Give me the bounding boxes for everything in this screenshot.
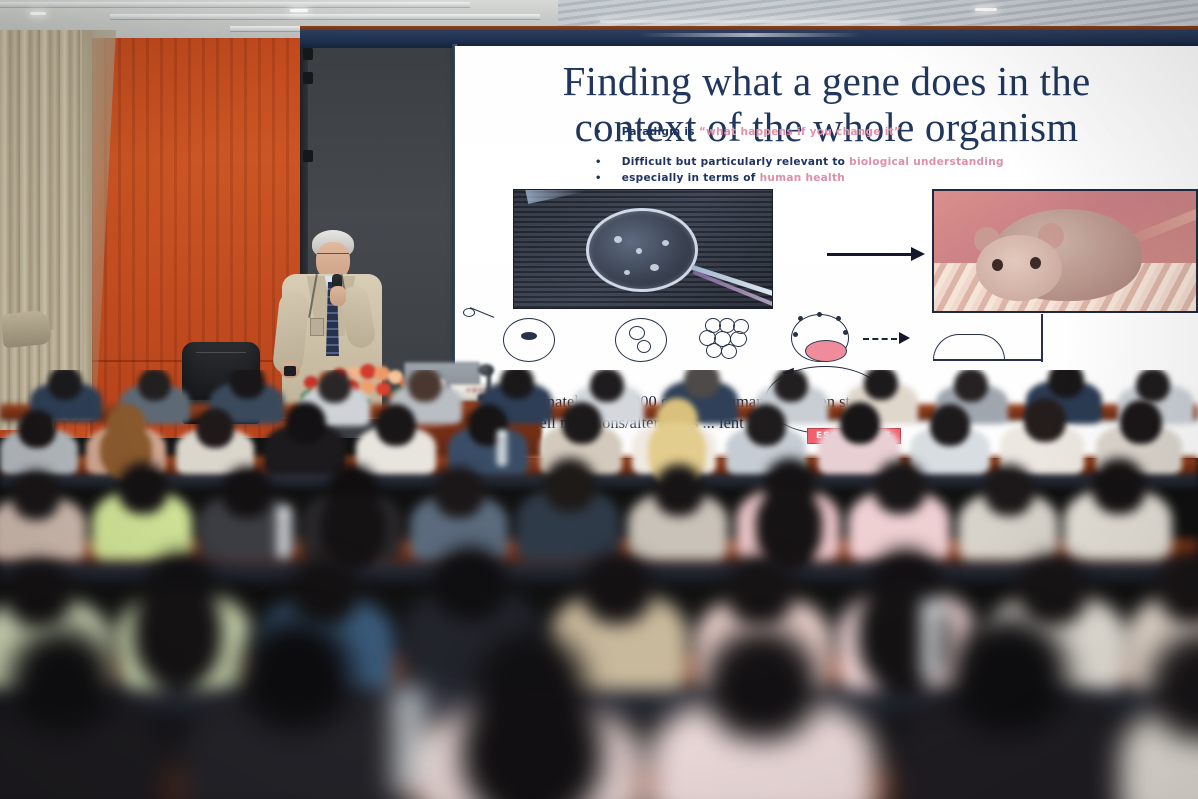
bullet-row-2: • Difficult but particularly relevant to… xyxy=(595,156,1155,170)
ceiling-downlight xyxy=(30,12,46,15)
ceiling-downlight xyxy=(600,20,900,23)
bullet-text-1: Paradigm is “what happens if you change … xyxy=(622,126,901,138)
diagram-pronucleus-b xyxy=(637,340,651,353)
image-flare xyxy=(525,189,585,204)
diagram-pronucleus xyxy=(521,332,537,340)
oocyte-speckle xyxy=(636,248,642,254)
mouse-tail xyxy=(1131,208,1198,245)
trophoblast-dot xyxy=(836,316,841,321)
morula-cell xyxy=(706,343,722,358)
panel-bracket xyxy=(303,150,313,162)
speaker-hand-right xyxy=(330,286,346,306)
bullet-row-1: • Paradigm is “what happens if you chang… xyxy=(595,126,1155,140)
bullet-marker: • xyxy=(595,172,602,186)
chair-seam xyxy=(196,352,246,353)
microinjection-image xyxy=(513,189,773,309)
implantation-curve xyxy=(933,334,1005,360)
bullet-text-3: especially in terms of human health xyxy=(622,172,845,184)
oocyte-speckle xyxy=(662,240,669,246)
trophoblast-dot xyxy=(793,332,798,337)
bullet-row-3: • especially in terms of human health xyxy=(595,172,1155,186)
panel-bracket xyxy=(303,48,313,60)
oocyte-shape xyxy=(586,208,698,292)
diagram-fertilized-egg xyxy=(503,318,555,362)
oocyte-speckle xyxy=(624,270,630,275)
slide-bullets: • Paradigm is “what happens if you chang… xyxy=(595,126,1155,186)
mouse-eye xyxy=(1030,257,1041,269)
bullet-marker: • xyxy=(595,156,602,170)
uterus-wall-line xyxy=(1041,314,1043,362)
micropipette xyxy=(691,265,773,296)
bullet-text-2: Difficult but particularly relevant to b… xyxy=(622,156,1004,168)
diagram-dashed-link xyxy=(863,338,897,340)
morula-cell xyxy=(721,344,737,359)
audience-area xyxy=(0,370,1198,799)
diagram-pronucleus-a xyxy=(629,326,645,340)
slide-title-line1: Finding what a gene does in the xyxy=(455,58,1198,105)
mouse-photo xyxy=(932,189,1198,313)
uterus-line xyxy=(933,359,1043,361)
oocyte-speckle xyxy=(650,264,659,271)
banner-glare xyxy=(640,33,860,37)
mouse-head xyxy=(976,235,1062,301)
bullet-marker: • xyxy=(595,126,602,140)
trophoblast-dot xyxy=(843,330,848,335)
trophoblast-dot xyxy=(817,312,822,317)
ceiling-light-strip xyxy=(110,14,540,19)
transmitter-pack xyxy=(310,318,324,336)
panel-bracket xyxy=(303,72,313,84)
ceiling-light-strip xyxy=(0,2,470,7)
oocyte-speckle xyxy=(614,236,622,243)
diagram-arrowhead xyxy=(899,332,910,344)
speaker-glasses xyxy=(317,253,349,259)
ceiling-downlight xyxy=(290,9,308,12)
trophoblast-dot xyxy=(798,316,803,321)
curtain-tieback xyxy=(0,310,51,349)
mouse-eye xyxy=(992,259,1003,271)
ceiling-downlight xyxy=(975,8,997,11)
inner-cell-mass xyxy=(805,340,847,362)
transfer-arrow-icon xyxy=(827,253,913,256)
lecture-hall-photo: Finding what a gene does in the context … xyxy=(0,0,1198,799)
